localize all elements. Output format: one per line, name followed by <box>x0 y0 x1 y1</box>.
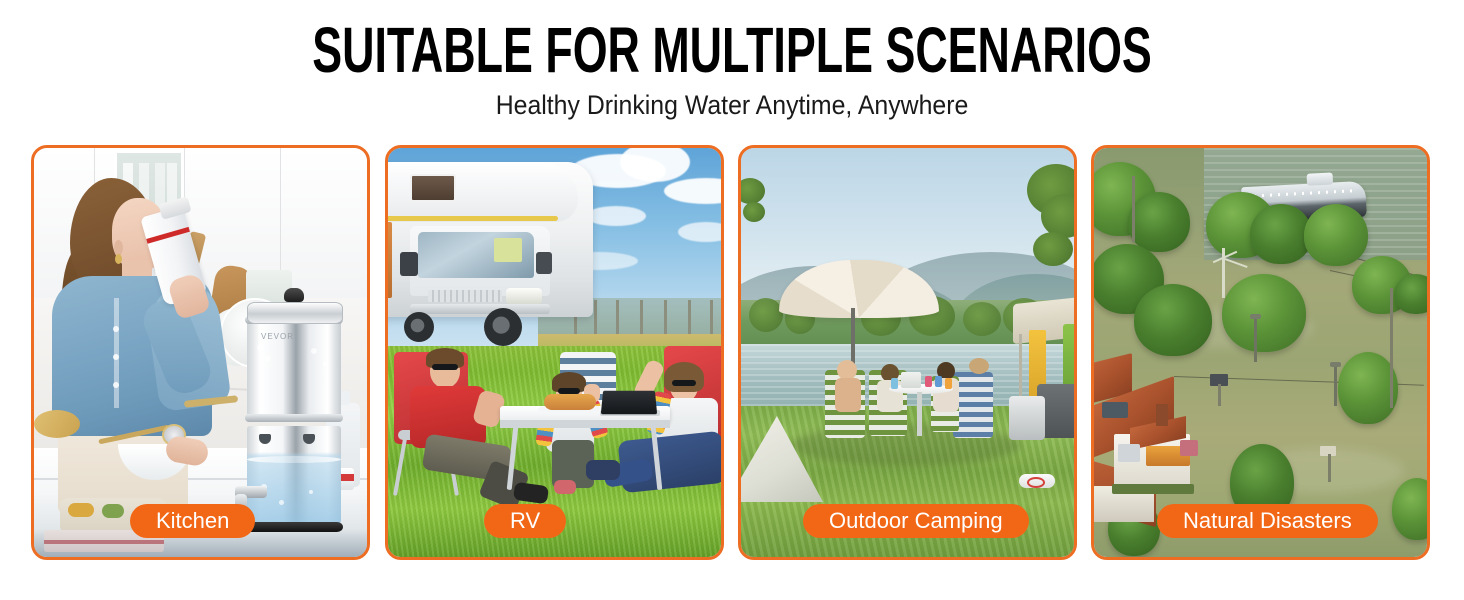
page-subtitle: Healthy Drinking Water Anytime, Anywhere <box>59 82 1406 120</box>
scenario-card-grid: VEVOR <box>31 145 1433 560</box>
promo-banner: SUITABLE FOR MULTIPLE SCENARIOS Healthy … <box>0 0 1464 600</box>
rv-photo <box>388 148 721 557</box>
page-title: SUITABLE FOR MULTIPLE SCENARIOS <box>220 0 1245 82</box>
card-badge-rv[interactable]: RV <box>484 504 566 538</box>
flood-photo <box>1094 148 1427 557</box>
water-filter-product: VEVOR <box>239 288 349 538</box>
kitchen-photo: VEVOR <box>34 148 367 557</box>
scenario-card-outdoor-camping[interactable]: Outdoor Camping <box>738 145 1077 560</box>
scenario-card-kitchen[interactable]: VEVOR <box>31 145 370 560</box>
banner-header: SUITABLE FOR MULTIPLE SCENARIOS Healthy … <box>0 0 1464 120</box>
camping-photo <box>741 148 1074 557</box>
card-badge-natural-disasters[interactable]: Natural Disasters <box>1157 504 1378 538</box>
patio-umbrella <box>779 260 939 318</box>
card-badge-kitchen[interactable]: Kitchen <box>130 504 255 538</box>
card-badge-outdoor-camping[interactable]: Outdoor Camping <box>803 504 1029 538</box>
scenario-card-rv[interactable]: RV <box>385 145 724 560</box>
scenario-card-natural-disasters[interactable]: Natural Disasters <box>1091 145 1430 560</box>
